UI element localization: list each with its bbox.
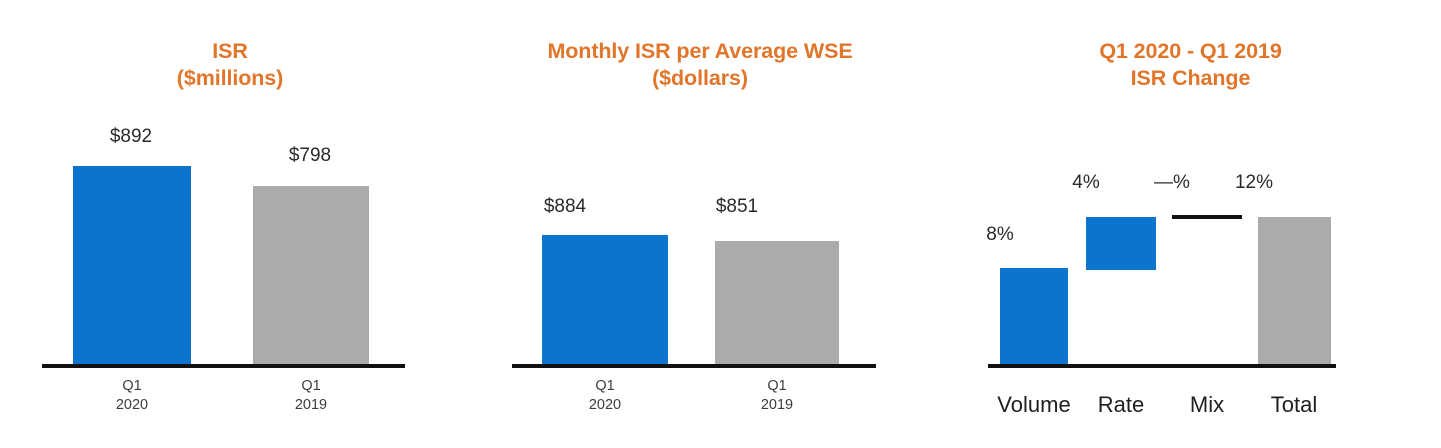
chart-board: ISR ($millions) $892 $798 Q1 2020 Q1 201… [0,0,1441,448]
bar-change-volume[interactable] [1000,268,1068,365]
plot-area-isr-per-wse: $884 $851 Q1 2020 Q1 2019 [460,0,940,448]
x-axis-label-isr-q1-2020-line1: Q1 [122,378,141,394]
chart-panel-isr: ISR ($millions) $892 $798 Q1 2020 Q1 201… [0,0,460,448]
x-axis-label-wse-q1-2020-line1: Q1 [595,378,614,394]
chart-panel-isr-per-wse: Monthly ISR per Average WSE ($dollars) $… [460,0,940,448]
x-axis-label-change-volume: Volume [984,392,1084,418]
x-axis-label-wse-q1-2019: Q1 2019 [732,377,822,415]
x-axis-label-wse-q1-2019-line1: Q1 [767,378,786,394]
x-axis-label-isr-q1-2019-line1: Q1 [301,378,320,394]
bar-change-mix-flat-marker[interactable] [1172,215,1242,219]
bar-change-total[interactable] [1258,217,1331,365]
x-axis-label-wse-q1-2020: Q1 2020 [560,377,650,415]
x-axis-label-isr-q1-2019-line2: 2019 [266,396,356,415]
x-axis-label-change-rate: Rate [1072,392,1170,418]
bar-isr-q1-2020[interactable] [73,166,191,365]
bar-value-label-change-mix: —% [1127,172,1217,194]
bar-value-label-wse-q1-2020: $884 [520,196,610,218]
plot-area-isr-change: 8% 4% —% 12% Volume Rate Mix Total [940,0,1441,448]
bar-value-label-wse-q1-2019: $851 [692,196,782,218]
bar-value-label-change-volume: 8% [955,224,1045,246]
x-axis-line-isr-per-wse [512,364,876,368]
chart-panel-isr-change: Q1 2020 - Q1 2019 ISR Change 8% 4% —% 12… [940,0,1441,448]
bar-value-label-change-total: 12% [1209,172,1299,194]
x-axis-label-isr-q1-2020: Q1 2020 [87,377,177,415]
bar-wse-q1-2020[interactable] [542,235,668,365]
x-axis-line-isr-change [988,364,1336,368]
x-axis-label-wse-q1-2020-line2: 2020 [560,396,650,415]
bar-value-label-isr-q1-2019: $798 [265,145,355,167]
x-axis-label-isr-q1-2020-line2: 2020 [87,396,177,415]
x-axis-label-isr-q1-2019: Q1 2019 [266,377,356,415]
x-axis-label-change-total: Total [1245,392,1343,418]
bar-value-label-isr-q1-2020: $892 [86,126,176,148]
x-axis-label-change-mix: Mix [1158,392,1256,418]
plot-area-isr: $892 $798 Q1 2020 Q1 2019 [0,0,460,448]
x-axis-label-wse-q1-2019-line2: 2019 [732,396,822,415]
bar-change-rate[interactable] [1086,217,1156,270]
bar-wse-q1-2019[interactable] [715,241,839,365]
bar-isr-q1-2019[interactable] [253,186,369,365]
x-axis-line-isr [42,364,405,368]
bar-value-label-change-rate: 4% [1041,172,1131,194]
